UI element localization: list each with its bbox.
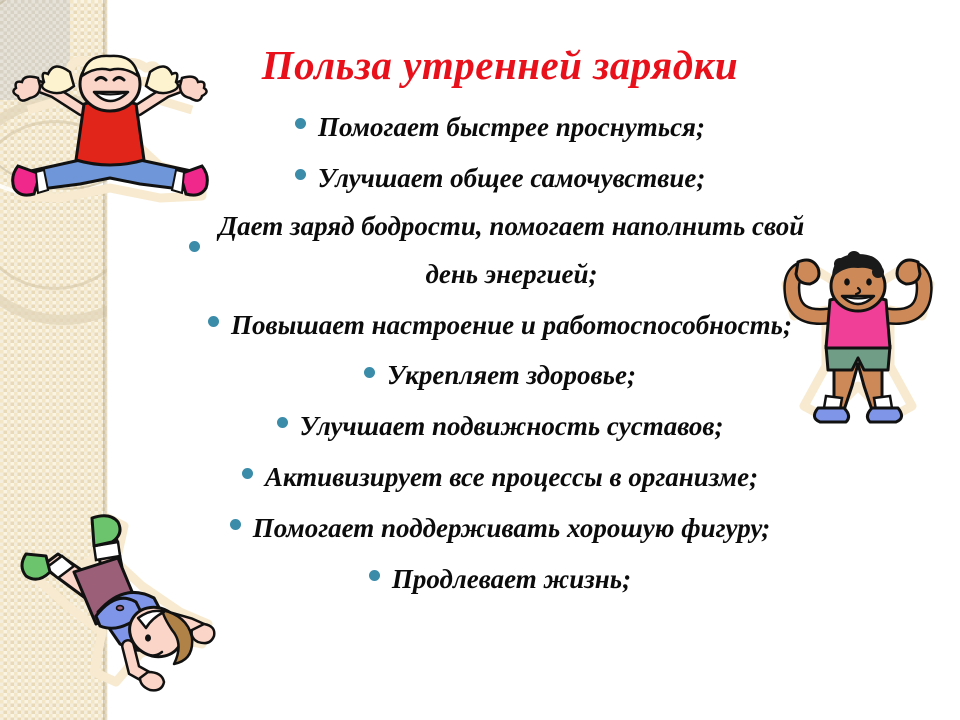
list-item-label: Продлевает жизнь; (392, 563, 631, 593)
list-item: Повышает настроение и работоспособность; (130, 298, 870, 349)
list-item: Дает заряд бодрости, помогает наполнить … (130, 202, 870, 298)
bullet-dot-icon (230, 519, 241, 530)
bullet-dot-icon (189, 241, 200, 252)
list-item-label: Помогает быстрее проснуться; (318, 112, 705, 142)
list-item: Помогает быстрее проснуться; (130, 100, 870, 151)
bullet-dot-icon (277, 417, 288, 428)
list-item-label: Помогает поддерживать хорошую фигуру; (253, 513, 771, 543)
list-item: Продлевает жизнь; (130, 552, 870, 603)
page-title: Польза утренней зарядки (150, 44, 850, 87)
list-item: Улучшает подвижность суставов; (130, 399, 870, 450)
bullet-dot-icon (369, 570, 380, 581)
list-item-label: Повышает настроение и работоспособность; (231, 309, 792, 339)
list-item: Помогает поддерживать хорошую фигуру; (130, 501, 870, 552)
list-item-label: Активизирует все процессы в организме; (265, 462, 758, 492)
list-item-label: Улучшает подвижность суставов; (300, 411, 724, 441)
list-item-label: Укрепляет здоровье; (387, 360, 636, 390)
list-item-label: Дает заряд бодрости, помогает наполнить … (212, 202, 812, 298)
list-item-label: Улучшает общее самочувствие; (318, 163, 706, 193)
list-item: Активизирует все процессы в организме; (130, 450, 870, 501)
bullet-dot-icon (208, 316, 219, 327)
content-column: Польза утренней зарядки Помогает быстрее… (150, 0, 950, 720)
bullet-dot-icon (295, 169, 306, 180)
benefits-bullet-list: Помогает быстрее проснуться; Улучшает об… (130, 100, 870, 602)
list-item: Улучшает общее самочувствие; (130, 151, 870, 202)
list-item: Укрепляет здоровье; (130, 348, 870, 399)
bullet-dot-icon (364, 367, 375, 378)
bullet-dot-icon (242, 468, 253, 479)
slide-canvas: Польза утренней зарядки Помогает быстрее… (0, 0, 960, 720)
bullet-dot-icon (295, 118, 306, 129)
